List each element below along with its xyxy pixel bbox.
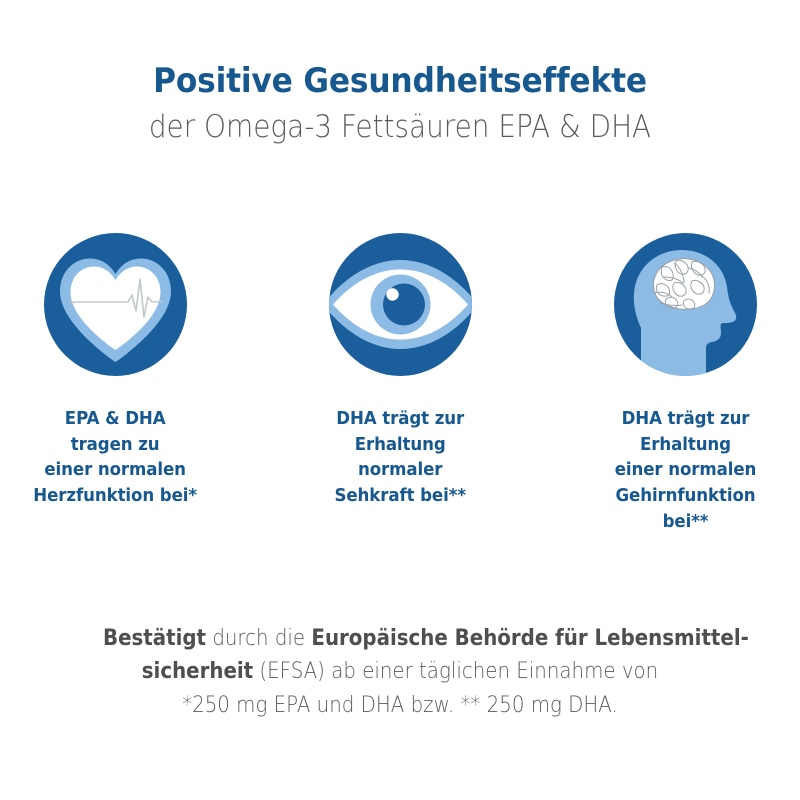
footer-bold-efsa-name: Europäische Behörde für Lebensmittel- [311, 626, 748, 651]
infographic-page: Positive Gesundheitseffekte der Omega-3 … [0, 0, 800, 800]
eye-icon [329, 233, 472, 376]
benefit-caption-brain: DHA trägt zur Erhaltung einer normalen G… [614, 407, 756, 536]
footer-bold-bestaetigt: Bestätigt [103, 626, 206, 651]
benefits-row: EPA & DHA tragen zu einer normalen Herzf… [0, 233, 800, 536]
benefit-item-eye: DHA trägt zur Erhaltung normaler Sehkraf… [300, 233, 500, 510]
benefit-item-heart: EPA & DHA tragen zu einer normalen Herzf… [15, 233, 215, 510]
page-subtitle: der Omega-3 Fettsäuren EPA & DHA [40, 108, 760, 147]
footer-line-3: *250 mg EPA und DHA bzw. ** 250 mg DHA. [103, 689, 697, 722]
footer-bold-sicherheit: sicherheit [142, 659, 253, 684]
footer-regular-efsa-intake: (EFSA) ab einer täglichen Einnahme von [253, 659, 658, 684]
footer-line-2: sicherheit (EFSA) ab einer täglichen Ein… [103, 655, 697, 688]
footer-line-1: Bestätigt durch die Europäische Behörde … [103, 622, 697, 655]
head-brain-icon [614, 233, 757, 376]
footer-regular-durch-die: durch die [206, 626, 311, 651]
footer-disclaimer: Bestätigt durch die Europäische Behörde … [70, 622, 730, 722]
benefit-caption-heart: EPA & DHA tragen zu einer normalen Herzf… [33, 407, 197, 510]
benefit-item-brain: DHA trägt zur Erhaltung einer normalen G… [585, 233, 785, 536]
benefit-caption-eye: DHA trägt zur Erhaltung normaler Sehkraf… [334, 407, 465, 510]
page-title: Positive Gesundheitseffekte [32, 62, 768, 100]
heart-ecg-icon [44, 233, 187, 376]
header: Positive Gesundheitseffekte der Omega-3 … [0, 62, 800, 147]
